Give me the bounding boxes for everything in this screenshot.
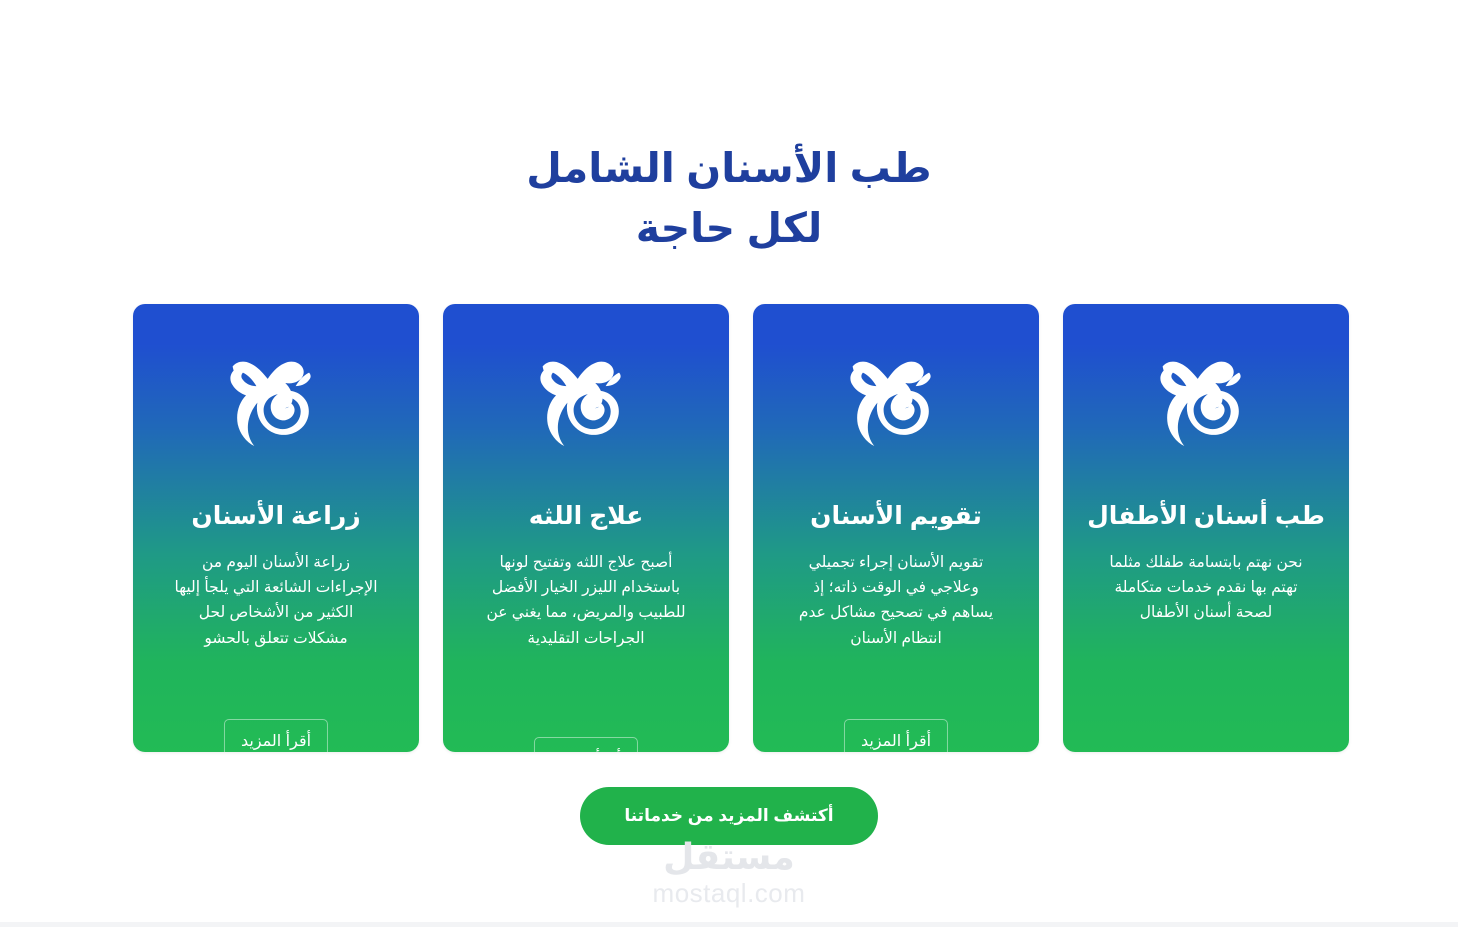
read-more-button[interactable]: أقرأ المزيد [534, 737, 638, 752]
page-root: طب الأسنان الشامل لكل حاجة طب أسنان الأط… [0, 0, 1458, 927]
dental-tooth-logo-icon [524, 352, 648, 476]
service-card-description: أصبح علاج اللثه وتفتيح لونها باستخدام ال… [483, 550, 689, 650]
service-card-orthodontics[interactable]: تقويم الأسنان تقويم الأسنان إجراء تجميلي… [753, 304, 1039, 752]
service-card-description: نحن نهتم بابتسامة طفلك مثلما تهتم بها نق… [1103, 550, 1309, 625]
read-more-button[interactable]: أقرأ المزيد [844, 719, 948, 752]
discover-more-services-button[interactable]: أكتشف المزيد من خدماتنا [580, 787, 877, 845]
mostaql-watermark: مستقل mostaql.com [0, 838, 1458, 909]
service-card-title: طب أسنان الأطفال [1087, 498, 1325, 534]
service-card-gum-treatment[interactable]: علاج اللثه أصبح علاج اللثه وتفتيح لونها … [443, 304, 729, 752]
page-title: طب الأسنان الشامل لكل حاجة [0, 139, 1458, 259]
cta-container: أكتشف المزيد من خدماتنا [0, 787, 1458, 845]
bottom-divider [0, 922, 1458, 927]
service-card-title: زراعة الأسنان [191, 498, 360, 534]
page-title-line-2: لكل حاجة [0, 199, 1458, 259]
dental-tooth-logo-icon [214, 352, 338, 476]
dental-tooth-logo-icon [1144, 352, 1268, 476]
service-card-dental-implants[interactable]: زراعة الأسنان زراعة الأسنان اليوم من الإ… [133, 304, 419, 752]
page-title-line-1: طب الأسنان الشامل [0, 139, 1458, 199]
service-card-title: علاج اللثه [529, 498, 644, 534]
service-cards-row: طب أسنان الأطفال نحن نهتم بابتسامة طفلك … [109, 304, 1349, 752]
service-card-pediatric-dentistry[interactable]: طب أسنان الأطفال نحن نهتم بابتسامة طفلك … [1063, 304, 1349, 752]
service-card-description: تقويم الأسنان إجراء تجميلي وعلاجي في الو… [793, 550, 999, 650]
service-card-title: تقويم الأسنان [810, 498, 982, 534]
watermark-url: mostaql.com [0, 878, 1458, 909]
service-card-description: زراعة الأسنان اليوم من الإجراءات الشائعة… [173, 550, 379, 650]
read-more-button[interactable]: أقرأ المزيد [224, 719, 328, 752]
dental-tooth-logo-icon [834, 352, 958, 476]
